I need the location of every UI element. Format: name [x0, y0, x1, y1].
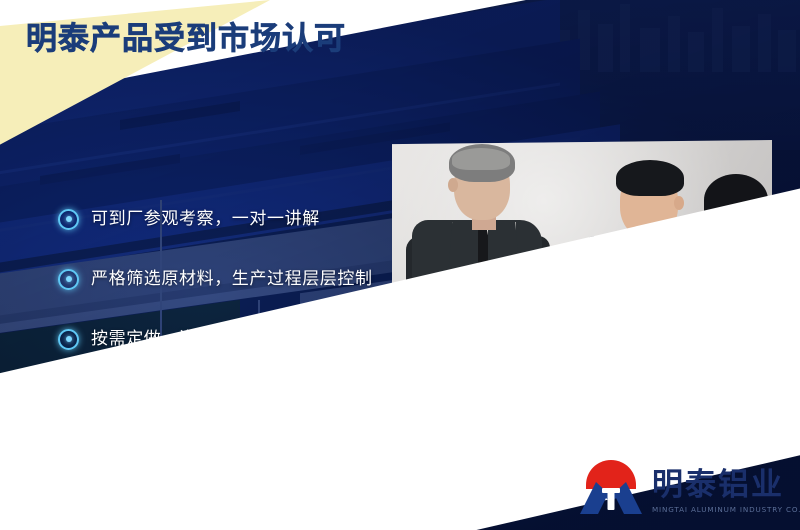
target-ring-icon: [58, 329, 79, 350]
promo-banner: 明泰产品受到市场认可 可到厂参观考察，一对一讲解 严格筛选原材料，生产过程层层控…: [0, 0, 800, 530]
mingtai-sun-mountain-logo: [578, 458, 644, 516]
target-ring-icon: [58, 269, 79, 290]
target-ring-icon: [58, 209, 79, 230]
list-item: 严格筛选原材料，生产过程层层控制: [58, 266, 388, 292]
company-name-cn: 明泰铝业: [652, 469, 800, 502]
feature-text: 严格筛选原材料，生产过程层层控制: [91, 271, 373, 288]
feature-text: 可到厂参观考察，一对一讲解: [91, 211, 320, 228]
list-item: 可到厂参观考察，一对一讲解: [58, 206, 388, 232]
company-logo: 明泰铝业 MINGTAI ALUMINUM INDUSTRY CO., LTD: [578, 458, 800, 516]
company-name-en: MINGTAI ALUMINUM INDUSTRY CO., LTD: [652, 505, 800, 514]
page-title: 明泰产品受到市场认可: [26, 24, 346, 55]
